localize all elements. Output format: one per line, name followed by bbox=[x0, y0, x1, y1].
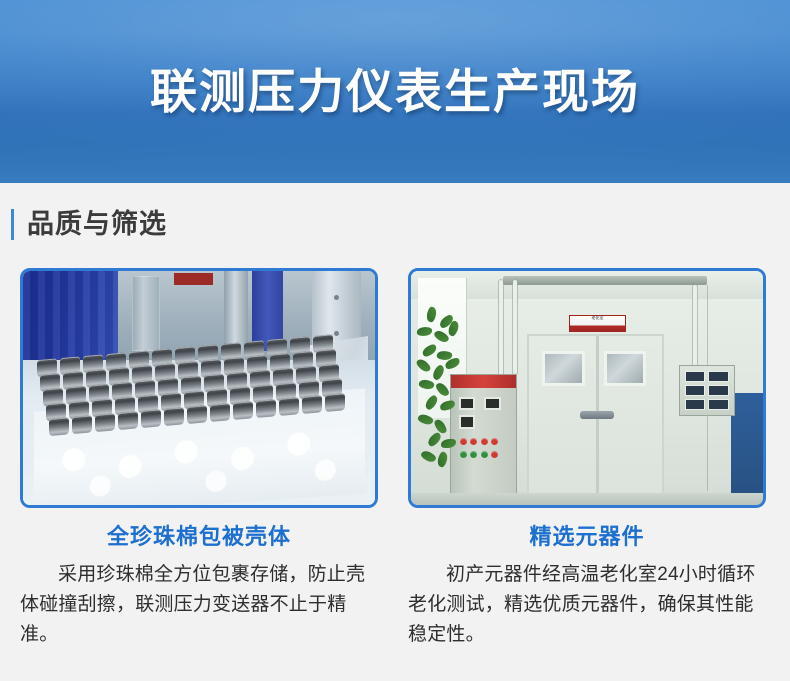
metal-housing bbox=[302, 395, 322, 414]
banner-title: 联测压力仪表生产现场 bbox=[150, 68, 640, 115]
metal-housing bbox=[141, 409, 161, 428]
blue-panel-right bbox=[731, 393, 763, 505]
plant-leaf bbox=[419, 448, 436, 464]
plant-leaf bbox=[435, 451, 449, 468]
plant-leaf bbox=[441, 438, 456, 447]
meter-cell bbox=[708, 399, 729, 410]
plant-leaf bbox=[415, 357, 432, 374]
aging-room-sign: 老化室 bbox=[569, 315, 625, 331]
cabinet-indicator-2 bbox=[470, 451, 477, 458]
plant-leaf bbox=[431, 364, 447, 381]
metal-housing bbox=[118, 411, 138, 430]
plant-leaf bbox=[423, 394, 440, 411]
cabinet-button-2 bbox=[470, 438, 477, 445]
meter-cell bbox=[685, 385, 706, 396]
ceiling-duct bbox=[503, 276, 707, 285]
cabinet-button-3 bbox=[481, 438, 488, 445]
pearl-cotton-photo-frame bbox=[20, 268, 378, 508]
caption-body-aging-chamber: 初产元器件经高温老化室24小时循环老化测试，精选优质元器件，确保其性能稳定性。 bbox=[408, 560, 766, 649]
cabinet-button-4 bbox=[491, 438, 498, 445]
chamber-floor bbox=[411, 493, 763, 505]
cabinet-indicator-4 bbox=[491, 451, 498, 458]
metal-housing bbox=[49, 417, 69, 436]
wall-pipe-left-2 bbox=[513, 280, 517, 374]
plant-leaf bbox=[435, 380, 451, 397]
metal-housing bbox=[210, 403, 230, 422]
aging-chamber-photo-frame: 老化室 bbox=[408, 268, 766, 508]
caption-title-pearl-cotton: 全珍珠棉包被壳体 bbox=[20, 524, 378, 550]
metal-housing bbox=[95, 413, 115, 432]
plant-leaf bbox=[418, 377, 435, 391]
metal-housing bbox=[187, 405, 207, 424]
plant-leaf bbox=[417, 327, 433, 337]
meter-cell bbox=[708, 371, 729, 382]
aging-chamber-room-photo: 老化室 bbox=[411, 271, 763, 505]
cabinet-meter-2 bbox=[484, 397, 501, 410]
metal-housing bbox=[279, 397, 299, 416]
wall-meter-box bbox=[679, 365, 735, 416]
section-heading: 品质与筛选 bbox=[0, 209, 790, 240]
pearl-cotton-packed-housings-photo bbox=[23, 271, 375, 505]
feature-card-aging-chamber: 老化室 bbox=[408, 268, 766, 649]
door-handle bbox=[580, 411, 615, 419]
wall-pipe-left bbox=[499, 280, 503, 383]
plant-leaf bbox=[425, 306, 439, 323]
chamber-double-doors bbox=[527, 334, 664, 498]
metal-housing bbox=[325, 393, 345, 412]
metal-housing bbox=[72, 415, 92, 434]
section-accent-bar bbox=[11, 209, 14, 240]
metal-housing bbox=[164, 407, 184, 426]
caption-title-aging-chamber: 精选元器件 bbox=[408, 524, 766, 550]
feature-card-row: 全珍珠棉包被壳体 采用珍珠棉全方位包裹存储，防止壳体碰撞刮擦，联测压力变送器不止… bbox=[0, 268, 790, 649]
shelf-post-left bbox=[132, 276, 160, 351]
meter-cell bbox=[685, 399, 706, 410]
section-title: 品质与筛选 bbox=[27, 211, 167, 238]
indoor-plant bbox=[411, 304, 471, 472]
door-window-right bbox=[604, 351, 647, 386]
metal-housing bbox=[256, 399, 276, 418]
plant-leaf bbox=[417, 412, 434, 427]
plant-leaf bbox=[421, 343, 438, 357]
cabinet-indicator-3 bbox=[481, 451, 488, 458]
door-window-left bbox=[542, 351, 585, 386]
plant-leaf bbox=[439, 400, 455, 411]
meter-cell bbox=[708, 385, 729, 396]
page-banner: 联测压力仪表生产现场 bbox=[0, 0, 790, 183]
meter-cell bbox=[685, 371, 706, 382]
metal-housing bbox=[233, 401, 253, 420]
red-box-shape bbox=[174, 273, 213, 285]
caption-body-pearl-cotton: 采用珍珠棉全方位包裹存储，防止壳体碰撞刮擦，联测压力变送器不止于精准。 bbox=[20, 560, 378, 649]
feature-card-pearl-cotton: 全珍珠棉包被壳体 采用珍珠棉全方位包裹存储，防止壳体碰撞刮擦，联测压力变送器不止… bbox=[20, 268, 378, 649]
